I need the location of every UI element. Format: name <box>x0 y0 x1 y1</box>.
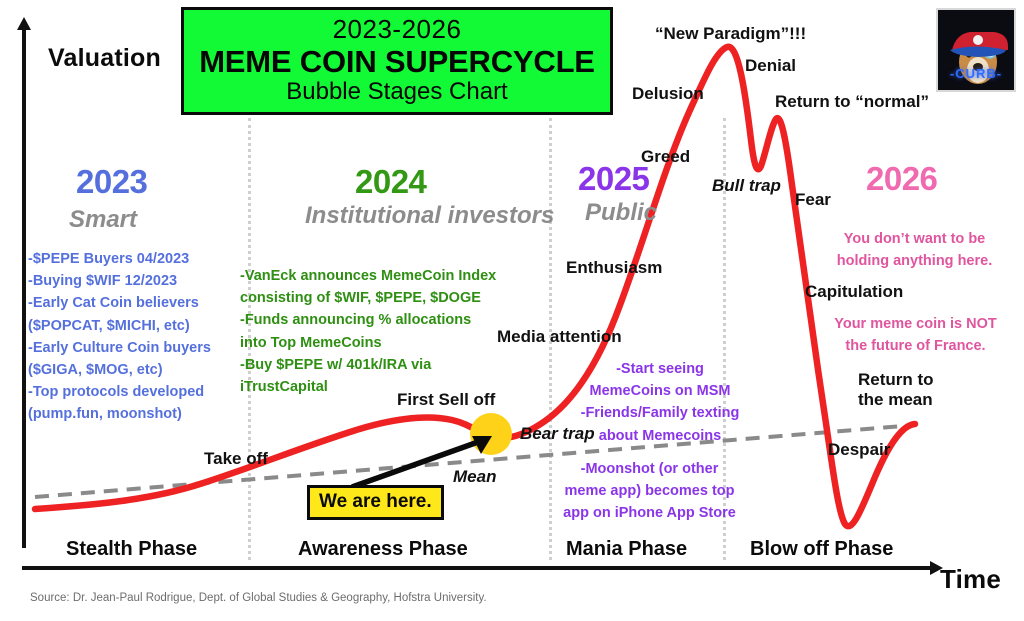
phase-label-blow-off: Blow off Phase <box>750 538 893 561</box>
title-headline: MEME COIN SUPERCYCLE <box>199 44 595 80</box>
y-axis-label: Valuation <box>48 44 161 73</box>
year-heading-2023: 2023 <box>76 163 147 201</box>
curb-dog-logo: -CURB- <box>936 8 1016 92</box>
stage-label-delusion: Delusion <box>632 84 704 103</box>
phase-label-stealth: Stealth Phase <box>66 538 197 561</box>
we-are-here-callout: We are here. <box>307 485 444 520</box>
title-card: 2023-2026 MEME COIN SUPERCYCLE Bubble St… <box>181 7 613 115</box>
source-attribution: Source: Dr. Jean-Paul Rodrigue, Dept. of… <box>30 592 487 604</box>
stage-label-return-to-the-mean: Return to the mean <box>858 370 934 411</box>
current-position-marker <box>470 413 512 455</box>
bullets-2026-secondary: Your meme coin is NOT the future of Fran… <box>808 313 1023 357</box>
title-subtitle: Bubble Stages Chart <box>286 79 507 105</box>
bullets-2023: -$PEPE Buyers 04/2023 -Buying $WIF 12/20… <box>28 248 243 425</box>
group-label-2025: Public <box>556 200 686 227</box>
year-heading-2024: 2024 <box>355 163 426 201</box>
stage-label-media-attention: Media attention <box>497 327 622 346</box>
group-label-2023: Smart <box>38 207 168 234</box>
phase-label-mania: Mania Phase <box>566 538 687 561</box>
callout-arrow-head <box>472 436 492 454</box>
stage-label-capitulation: Capitulation <box>805 282 903 301</box>
group-label-2024: Institutional investors <box>305 203 505 230</box>
stage-label-despair: Despair <box>828 440 890 459</box>
stage-label-enthusiasm: Enthusiasm <box>566 258 662 277</box>
phase-label-awareness: Awareness Phase <box>298 538 468 561</box>
stage-label-first-sell-off: First Sell off <box>397 390 495 409</box>
y-axis <box>22 28 26 548</box>
stage-label-mean: Mean <box>453 467 496 486</box>
year-heading-2025: 2025 <box>578 160 649 198</box>
phase-band-row: Stealth Phase Awareness Phase Mania Phas… <box>26 531 926 567</box>
bubble-chart-canvas: Valuation Time 2023-2026 MEME COIN SUPER… <box>0 0 1024 621</box>
stage-label-bull-trap: Bull trap <box>712 176 781 195</box>
stage-label-new-paradigm: “New Paradigm”!!! <box>655 24 806 43</box>
stage-label-denial: Denial <box>745 56 796 75</box>
bullets-2026: You don’t want to be holding anything he… <box>812 228 1017 272</box>
bullets-2025-secondary: -Moonshot (or other meme app) becomes to… <box>542 458 757 525</box>
stage-label-return-to-normal: Return to “normal” <box>775 92 929 111</box>
stage-label-greed: Greed <box>641 147 690 166</box>
title-years: 2023-2026 <box>333 16 462 43</box>
mean-line <box>35 425 915 497</box>
year-heading-2026: 2026 <box>866 160 937 198</box>
logo-text: -CURB- <box>938 66 1014 81</box>
stage-label-bear-trap: Bear trap <box>520 424 595 443</box>
stage-label-fear: Fear <box>795 190 831 209</box>
stage-label-take-off: Take off <box>204 449 268 468</box>
x-axis-label: Time <box>940 564 1001 595</box>
